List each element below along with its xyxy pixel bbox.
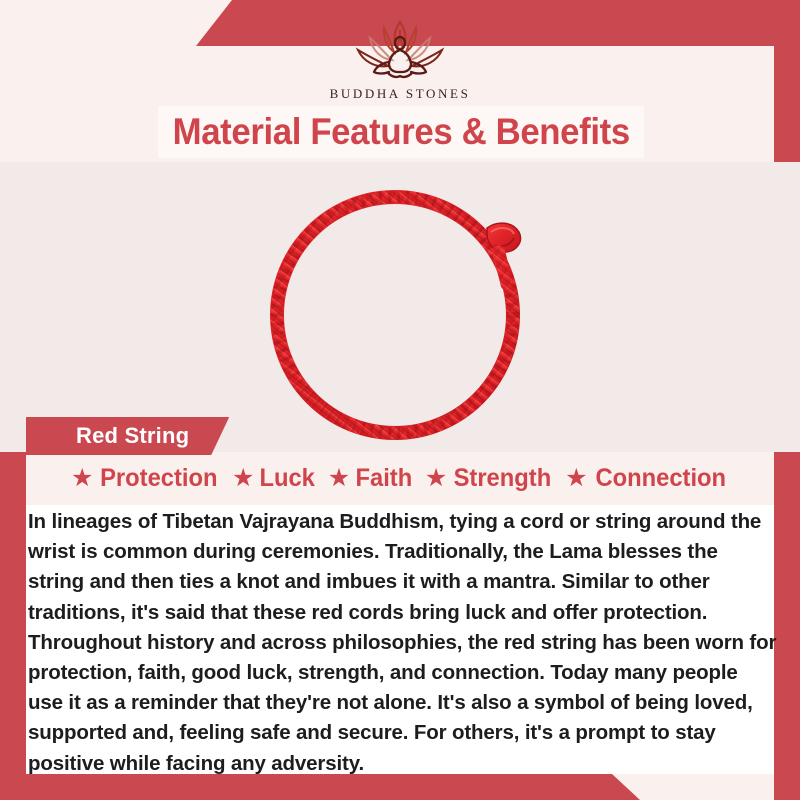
description-text: In lineages of Tibetan Vajrayana Buddhis… bbox=[28, 507, 778, 779]
benefit-label: Strength bbox=[454, 464, 552, 493]
infographic-page: BUDDHA STONES Material Features & Benefi… bbox=[0, 0, 800, 800]
material-label-ribbon: Red String bbox=[26, 417, 229, 455]
star-icon: ★ bbox=[71, 466, 93, 491]
star-icon: ★ bbox=[328, 466, 350, 491]
benefit-label: Protection bbox=[100, 464, 217, 493]
benefit-item: ★ Connection bbox=[565, 464, 729, 493]
benefits-row: ★ Protection ★ Luck ★ Faith ★ Strength ★… bbox=[0, 464, 800, 493]
benefit-item: ★ Faith bbox=[328, 464, 414, 493]
benefit-item: ★ Strength bbox=[425, 464, 554, 493]
brand-name: BUDDHA STONES bbox=[0, 86, 800, 102]
benefit-item: ★ Protection bbox=[71, 464, 221, 493]
star-icon: ★ bbox=[425, 466, 447, 491]
lotus-meditation-icon bbox=[0, 12, 800, 84]
page-title: Material Features & Benefits bbox=[172, 111, 629, 153]
title-banner: Material Features & Benefits bbox=[158, 106, 644, 158]
brand-logo: BUDDHA STONES bbox=[0, 12, 800, 102]
star-icon: ★ bbox=[565, 466, 587, 491]
product-photo-panel bbox=[0, 162, 800, 452]
benefit-item: ★ Luck bbox=[232, 464, 317, 493]
benefit-label: Faith bbox=[356, 464, 413, 493]
benefit-label: Connection bbox=[595, 464, 726, 493]
benefit-label: Luck bbox=[260, 464, 315, 493]
star-icon: ★ bbox=[232, 466, 254, 491]
material-label: Red String bbox=[76, 423, 189, 449]
